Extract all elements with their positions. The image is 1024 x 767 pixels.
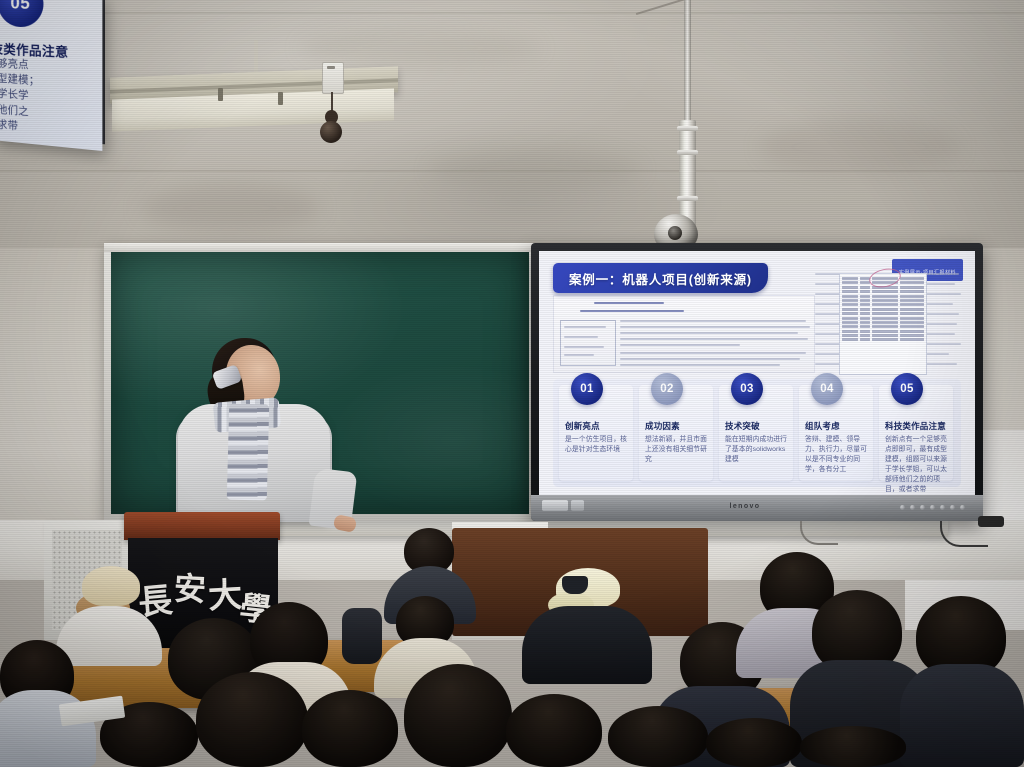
beige-baseball-cap — [82, 566, 140, 606]
chalkboard-top-rail — [104, 243, 536, 252]
card-number-circle-02: 02 — [651, 373, 683, 405]
lecture-hall-photo: 05 科技类作品注意 个足够亮点 有成型建模； 原于学长学 师们他们之 或者求带… — [0, 0, 1024, 767]
audience-body-r4 — [900, 664, 1024, 767]
card-number-circle-01: 01 — [571, 373, 603, 405]
podium-calligraphy-3: 大 — [207, 567, 244, 618]
light-clip-b — [278, 92, 283, 105]
card-heading-03: 技术突破 — [725, 421, 791, 431]
card-body-03: 能在短期内成功进行了基本的solidworks建模 — [725, 435, 789, 465]
card-heading-04: 组队考虑 — [805, 421, 871, 431]
smart-board-plug — [978, 516, 1004, 527]
slide-card-strip: 01 创新亮点 是一个仿生项目，核心是针对生态环境 02 成功因素 想法新颖，并… — [553, 379, 961, 487]
interactive-smart-board[interactable]: 案例一：机器人项目(创新来源) 实例展示·项目汇报材料 — [531, 243, 983, 521]
pole-ring-c — [677, 196, 698, 201]
slide-card-05: 05 科技类作品注意 创新点有一个足够亮点即即可，最有成型建模，组题可以来源于学… — [879, 385, 953, 481]
slide-card-03: 03 技术突破 能在短期内成功进行了基本的solidworks建模 — [719, 385, 793, 481]
card-number-01: 01 — [580, 383, 593, 395]
slide-card-04: 04 组队考虑 答辩、建模、领导力、执行力，尽量可以是不同专业的同学，各有分工 — [799, 385, 873, 481]
audience-body-white-cap — [522, 606, 652, 684]
card-body-04: 答辩、建模、领导力、执行力，尽量可以是不同专业的同学，各有分工 — [805, 435, 869, 475]
projection-card-body: 个足够亮点 有成型建模； 原于学长学 师们他们之 或者求带 — [0, 55, 92, 141]
smart-board-button-5[interactable] — [940, 505, 945, 510]
smart-board-button-1[interactable] — [900, 505, 905, 510]
card-heading-05: 科技类作品注意 — [885, 421, 951, 431]
smart-board-screen[interactable]: 案例一：机器人项目(创新来源) 实例展示·项目汇报材料 — [539, 251, 975, 495]
audience-head-f7 — [706, 718, 802, 767]
smart-board-button-2[interactable] — [910, 505, 915, 510]
slide-card-02: 02 成功因素 想法新颖，并且市面上还没有相关细节研究 — [639, 385, 713, 481]
wall-stain-d — [300, 30, 540, 66]
card-number-04: 04 — [820, 383, 833, 395]
audience-head-f3 — [302, 690, 398, 767]
light-stem — [254, 40, 258, 76]
wall-stain-a — [140, 185, 320, 231]
pole-ring-a — [677, 126, 698, 131]
lectern-top — [124, 512, 280, 540]
audience-head-f6 — [608, 706, 708, 767]
mic-box-led — [327, 66, 335, 69]
audience-head-f4 — [404, 664, 512, 767]
projection-card-circle: 05 — [0, 0, 43, 28]
presenter-scarf — [227, 403, 269, 500]
card-body-05: 创新点有一个足够亮点即即可，最有成型建模，组题可以来源于学长学姐，可以太部师他们… — [885, 435, 949, 495]
card-number-circle-05: 05 — [891, 373, 923, 405]
projection-card-number: 05 — [10, 0, 30, 14]
smart-board-brand-logo: lenovo — [720, 503, 770, 512]
card-number-circle-03: 03 — [731, 373, 763, 405]
card-number-circle-04: 04 — [811, 373, 843, 405]
slide-document-image — [553, 295, 815, 373]
audience-head-f8 — [800, 726, 906, 767]
audience-head-f5 — [506, 694, 602, 767]
camera-pole-lower — [679, 120, 696, 230]
smart-board-button-7[interactable] — [960, 505, 965, 510]
audience-head-f2 — [196, 672, 308, 767]
camera-lens-icon — [668, 226, 682, 240]
card-number-05: 05 — [900, 383, 913, 395]
light-clip-a — [218, 88, 223, 101]
wall-stain-c — [760, 120, 960, 174]
card-body-02: 想法新颖，并且市面上还没有相关细节研究 — [645, 435, 709, 465]
cap-logo-icon — [562, 576, 588, 594]
camera-pole-upper — [684, 0, 691, 128]
card-number-02: 02 — [660, 383, 673, 395]
smart-board-button-6[interactable] — [950, 505, 955, 510]
hanging-microphone — [320, 121, 342, 143]
smart-board-label-left2[interactable] — [571, 500, 584, 511]
smart-board-button-3[interactable] — [920, 505, 925, 510]
card-heading-02: 成功因素 — [645, 421, 711, 431]
wall-stain-b — [430, 150, 640, 190]
card-heading-01: 创新亮点 — [565, 421, 631, 431]
card-body-01: 是一个仿生项目，核心是针对生态环境 — [565, 435, 629, 455]
smart-board-label-left[interactable] — [542, 500, 568, 511]
slide-card-01: 01 创新亮点 是一个仿生项目，核心是针对生态环境 — [559, 385, 633, 481]
slide-title-banner: 案例一：机器人项目(创新来源) — [553, 263, 768, 293]
podium-calligraphy-2: 安 — [173, 563, 207, 611]
left-projection-screen: 05 科技类作品注意 个足够亮点 有成型建模； 原于学长学 师们他们之 或者求带 — [0, 0, 102, 151]
pole-ring-b — [677, 150, 698, 155]
slide-title-text: 案例一：机器人项目(创新来源) — [569, 269, 752, 288]
smart-board-button-4[interactable] — [930, 505, 935, 510]
audience-backpack — [342, 608, 382, 664]
card-number-03: 03 — [740, 383, 753, 395]
slide-data-table — [839, 273, 927, 375]
wall-seam-top — [0, 12, 1024, 14]
